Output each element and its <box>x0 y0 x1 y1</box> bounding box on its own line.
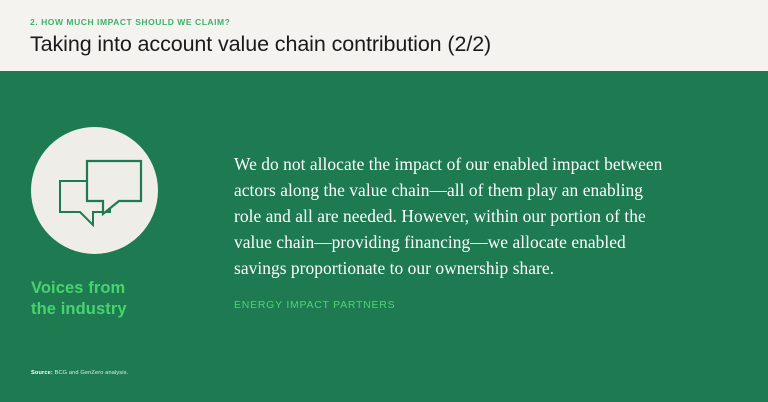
voices-label-line-2: the industry <box>31 299 231 320</box>
voices-label-line-1: Voices from <box>31 278 231 299</box>
section-eyebrow: 2. HOW MUCH IMPACT SHOULD WE CLAIM? <box>30 17 768 28</box>
voices-label: Voices from the industry <box>31 278 231 320</box>
source-label: Source: <box>31 370 53 376</box>
voices-panel: Voices from the industry <box>31 127 231 320</box>
slide: 2. HOW MUCH IMPACT SHOULD WE CLAIM? Taki… <box>0 0 768 402</box>
page-title: Taking into account value chain contribu… <box>30 30 768 58</box>
slide-body: Voices from the industry We do not alloc… <box>0 71 768 402</box>
source-footnote: Source: BCG and GenZero analysis. <box>31 369 128 377</box>
icon-circle-badge <box>31 127 158 254</box>
quote-panel: We do not allocate the impact of our ena… <box>234 151 664 312</box>
quote-text: We do not allocate the impact of our ena… <box>234 151 664 281</box>
quote-attribution: ENERGY IMPACT PARTNERS <box>234 298 664 312</box>
source-text: BCG and GenZero analysis. <box>53 370 128 376</box>
slide-header: 2. HOW MUCH IMPACT SHOULD WE CLAIM? Taki… <box>0 0 768 71</box>
